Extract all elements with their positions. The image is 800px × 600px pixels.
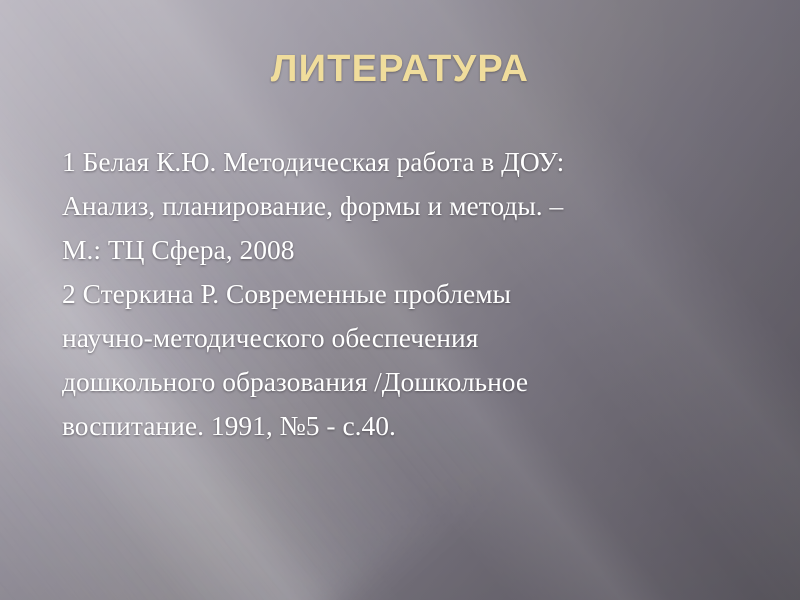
reference-line: Анализ, планирование, формы и методы. – bbox=[62, 184, 742, 228]
reference-line: М.: ТЦ Сфера, 2008 bbox=[62, 228, 742, 272]
reference-line: научно-методического обеспечения bbox=[62, 316, 742, 360]
reference-line: дошкольного образования /Дошкольное bbox=[62, 360, 742, 404]
reference-line: 1 Белая К.Ю. Методическая работа в ДОУ: bbox=[62, 140, 742, 184]
reference-line: 2 Стеркина Р. Современные проблемы bbox=[62, 272, 742, 316]
reference-list: 1 Белая К.Ю. Методическая работа в ДОУ: … bbox=[62, 140, 742, 448]
presentation-slide: ЛИТЕРАТУРА 1 Белая К.Ю. Методическая раб… bbox=[0, 0, 800, 600]
reference-line: воспитание. 1991, №5 - с.40. bbox=[62, 404, 742, 448]
page-title: ЛИТЕРАТУРА bbox=[0, 48, 800, 91]
slide-content: ЛИТЕРАТУРА 1 Белая К.Ю. Методическая раб… bbox=[0, 0, 800, 600]
